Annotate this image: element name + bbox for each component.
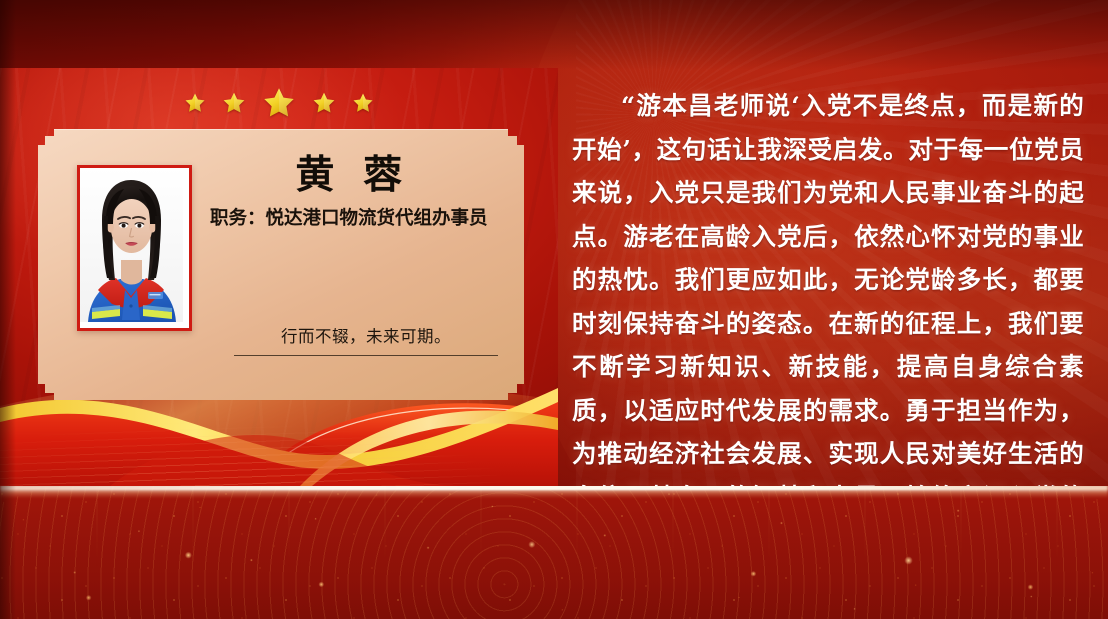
particle-vertical-beams [0, 486, 1108, 619]
person-name: 黄 蓉 [210, 151, 506, 199]
profile-card-inner: 黄 蓉 职务：悦达港口物流货代组办事员 行而不辍，未来可期。 [38, 129, 524, 400]
profile-text: 黄 蓉 职务：悦达港口物流货代组办事员 [210, 151, 506, 232]
profile-card: 黄 蓉 职务：悦达港口物流货代组办事员 行而不辍，未来可期。 [38, 129, 524, 400]
motto-divider [234, 355, 498, 356]
motto-block: 行而不辍，未来可期。 [234, 325, 498, 356]
poster-root: 黄 蓉 职务：悦达港口物流货代组办事员 行而不辍，未来可期。 “游本昌老师说‘入… [0, 0, 1108, 619]
motto-text: 行而不辍，未来可期。 [234, 325, 498, 349]
avatar [77, 165, 192, 331]
particle-field [0, 486, 1108, 619]
horizon-light-core [0, 486, 1108, 490]
person-title: 职务：悦达港口物流货代组办事员 [210, 206, 506, 232]
